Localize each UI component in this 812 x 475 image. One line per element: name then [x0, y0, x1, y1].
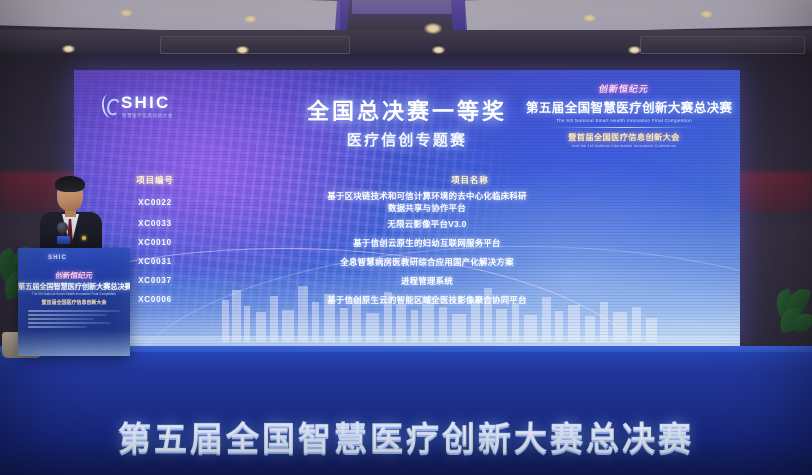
table-row: XC0006基于信创原生云的智能区域全医技影像聚合协同平台: [92, 290, 722, 309]
ceiling-downlight: [432, 46, 445, 54]
ceiling-accent-light-right: [451, 0, 467, 32]
table-row: XC0022基于区块链技术和可信计算环境的去中心化临床科研数据共享与协作平台: [92, 190, 722, 214]
stage-banner-text: 第五届全国智慧医疗创新大赛总决赛: [0, 412, 812, 460]
cell-project-code: XC0010: [92, 238, 218, 247]
speaker-hair: [55, 176, 85, 192]
winners-table: 项目编号 项目名称 XC0022基于区块链技术和可信计算环境的去中心化临床科研数…: [92, 174, 722, 309]
cell-project-code: XC0022: [92, 198, 218, 207]
podium-event-title-english: The 5th National Smart Health Innovation…: [18, 292, 130, 296]
podium-secondary-title: 暨首届全国医疗信息创新大会: [18, 299, 130, 306]
podium-tagline: 创新恒纪元: [18, 270, 130, 281]
cell-project-name: 基于信创云原生的妇幼互联网服务平台: [218, 237, 722, 249]
cell-project-code: XC0033: [92, 219, 218, 228]
led-screen: SHIC 智慧医疗信息创新大会 全国总决赛一等奖 医疗信创专题赛 创新恒纪元 第…: [74, 70, 740, 352]
cell-project-name: 基于区块链技术和可信计算环境的去中心化临床科研数据共享与协作平台: [218, 190, 722, 214]
podium: SHIC 创新恒纪元 第五届全国智慧医疗创新大赛总决赛 The 5th Nati…: [18, 248, 130, 356]
ceiling-downlight: [236, 46, 249, 54]
podium-skyline-graphic: [18, 330, 130, 356]
column-header-code: 项目编号: [92, 174, 218, 186]
ceiling-downlight: [120, 9, 133, 17]
ceiling-accent-light-left: [335, 0, 349, 32]
event-title: 第五届全国智慧医疗创新大赛总决赛: [526, 97, 722, 116]
event-divider: [549, 127, 699, 128]
ceiling-downlight: [244, 15, 257, 23]
column-header-name: 项目名称: [218, 174, 722, 186]
table-body: XC0022基于区块链技术和可信计算环境的去中心化临床科研数据共享与协作平台XC…: [92, 190, 722, 309]
podium-shic-logo: SHIC: [48, 255, 67, 261]
podium-event-title: 第五届全国智慧医疗创新大赛总决赛: [18, 282, 130, 292]
decorative-plant-right: [772, 290, 812, 360]
event-lockup: 创新恒纪元 第五届全国智慧医疗创新大赛总决赛 The 5th National …: [526, 82, 722, 148]
event-title-english: The 5th National Smart Health Innovation…: [526, 118, 722, 123]
table-row: XC0033无限云影像平台V3.0: [92, 214, 722, 233]
cell-project-name: 进程管理系统: [218, 275, 722, 287]
table-header-row: 项目编号 项目名称: [92, 174, 722, 190]
microphone-flag: [57, 236, 70, 244]
event-secondary-english: And the 1st National Information Innovat…: [526, 144, 722, 148]
conference-stage-photo: SHIC 智慧医疗信息创新大会 全国总决赛一等奖 医疗信创专题赛 创新恒纪元 第…: [0, 0, 812, 475]
cell-project-name: 基于信创原生云的智能区域全医技影像聚合协同平台: [218, 294, 722, 306]
cell-project-name: 无限云影像平台V3.0: [218, 218, 722, 230]
ceiling-panel-center: [352, 0, 452, 14]
ceiling-vent-right: [640, 36, 805, 54]
microphone-head-icon: [57, 222, 68, 233]
ceiling-downlight: [583, 14, 596, 22]
ceiling-downlight: [700, 10, 713, 18]
table-row: XC0010基于信创云原生的妇幼互联网服务平台: [92, 233, 722, 252]
ceiling-downlight: [628, 46, 641, 54]
podium-text-lines: [28, 310, 120, 330]
event-tagline: 创新恒纪元: [525, 82, 723, 95]
ceiling: [0, 0, 812, 56]
ceiling-vent-left: [160, 36, 350, 54]
table-row: XC0037进程管理系统: [92, 271, 722, 290]
cell-project-name: 全息智慧病房医教研综合应用国产化解决方案: [218, 256, 722, 268]
table-row: XC0031全息智慧病房医教研综合应用国产化解决方案: [92, 252, 722, 271]
ceiling-downlight: [62, 45, 75, 53]
speaker-lapel-pin: [82, 236, 86, 240]
ceiling-downlight: [424, 23, 442, 34]
event-secondary-title: 暨首届全国医疗信息创新大会: [526, 131, 722, 143]
